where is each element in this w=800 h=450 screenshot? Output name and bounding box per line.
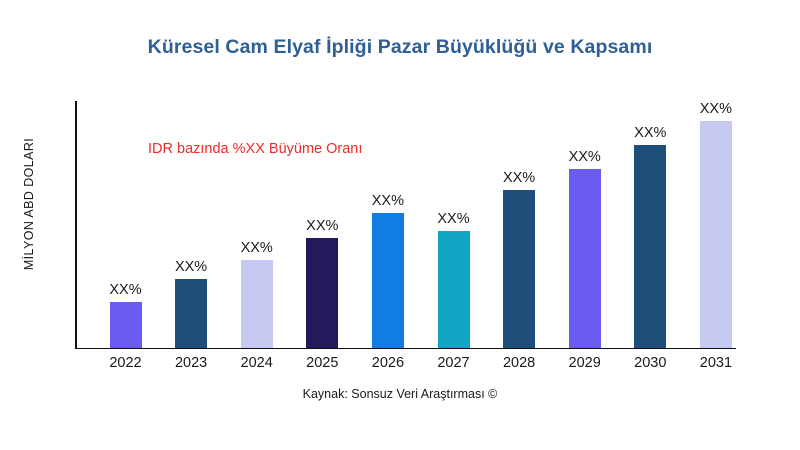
x-tick-2026: 2026 bbox=[355, 355, 421, 371]
bar-value-label-2029: XX% bbox=[552, 149, 618, 165]
bar-2030[interactable] bbox=[634, 145, 666, 348]
bar-2022[interactable] bbox=[110, 302, 142, 348]
x-tick-2025: 2025 bbox=[289, 355, 355, 371]
bar-group: XX% bbox=[683, 88, 749, 348]
bar-value-label-2030: XX% bbox=[617, 125, 683, 141]
bar-group: XX% bbox=[224, 88, 290, 348]
x-tick-2031: 2031 bbox=[683, 355, 749, 371]
x-tick-2022: 2022 bbox=[93, 355, 159, 371]
x-tick-2027: 2027 bbox=[421, 355, 487, 371]
bar-value-label-2024: XX% bbox=[224, 240, 290, 256]
bar-value-label-2023: XX% bbox=[158, 259, 224, 275]
bar-group: XX% bbox=[486, 88, 552, 348]
bar-group: XX% bbox=[421, 88, 487, 348]
bar-2025[interactable] bbox=[306, 238, 338, 348]
bar-group: XX% bbox=[158, 88, 224, 348]
x-tick-2029: 2029 bbox=[552, 355, 618, 371]
bar-group: XX% bbox=[617, 88, 683, 348]
chart-container: Küresel Cam Elyaf İpliği Pazar Büyüklüğü… bbox=[0, 0, 800, 450]
bar-group: XX% bbox=[289, 88, 355, 348]
plot-area: XX%2022XX%2023XX%2024XX%2025XX%2026XX%20… bbox=[0, 0, 800, 450]
bar-group: XX% bbox=[355, 88, 421, 348]
bar-2023[interactable] bbox=[175, 279, 207, 348]
bar-group: XX% bbox=[552, 88, 618, 348]
x-tick-2028: 2028 bbox=[486, 355, 552, 371]
x-tick-2030: 2030 bbox=[617, 355, 683, 371]
bar-value-label-2031: XX% bbox=[683, 101, 749, 117]
bar-2031[interactable] bbox=[700, 121, 732, 348]
bar-2024[interactable] bbox=[241, 260, 273, 348]
source-caption: Kaynak: Sonsuz Veri Araştırması © bbox=[0, 387, 800, 401]
bar-2027[interactable] bbox=[438, 231, 470, 348]
bar-2029[interactable] bbox=[569, 169, 601, 348]
bar-2028[interactable] bbox=[503, 190, 535, 348]
bar-value-label-2027: XX% bbox=[421, 211, 487, 227]
bar-value-label-2025: XX% bbox=[289, 218, 355, 234]
bar-group: XX% bbox=[93, 88, 159, 348]
x-tick-2023: 2023 bbox=[158, 355, 224, 371]
bar-value-label-2026: XX% bbox=[355, 193, 421, 209]
bar-2026[interactable] bbox=[372, 213, 404, 348]
growth-rate-annotation: IDR bazında %XX Büyüme Oranı bbox=[148, 141, 362, 157]
bar-value-label-2028: XX% bbox=[486, 170, 552, 186]
x-tick-2024: 2024 bbox=[224, 355, 290, 371]
bar-value-label-2022: XX% bbox=[93, 282, 159, 298]
